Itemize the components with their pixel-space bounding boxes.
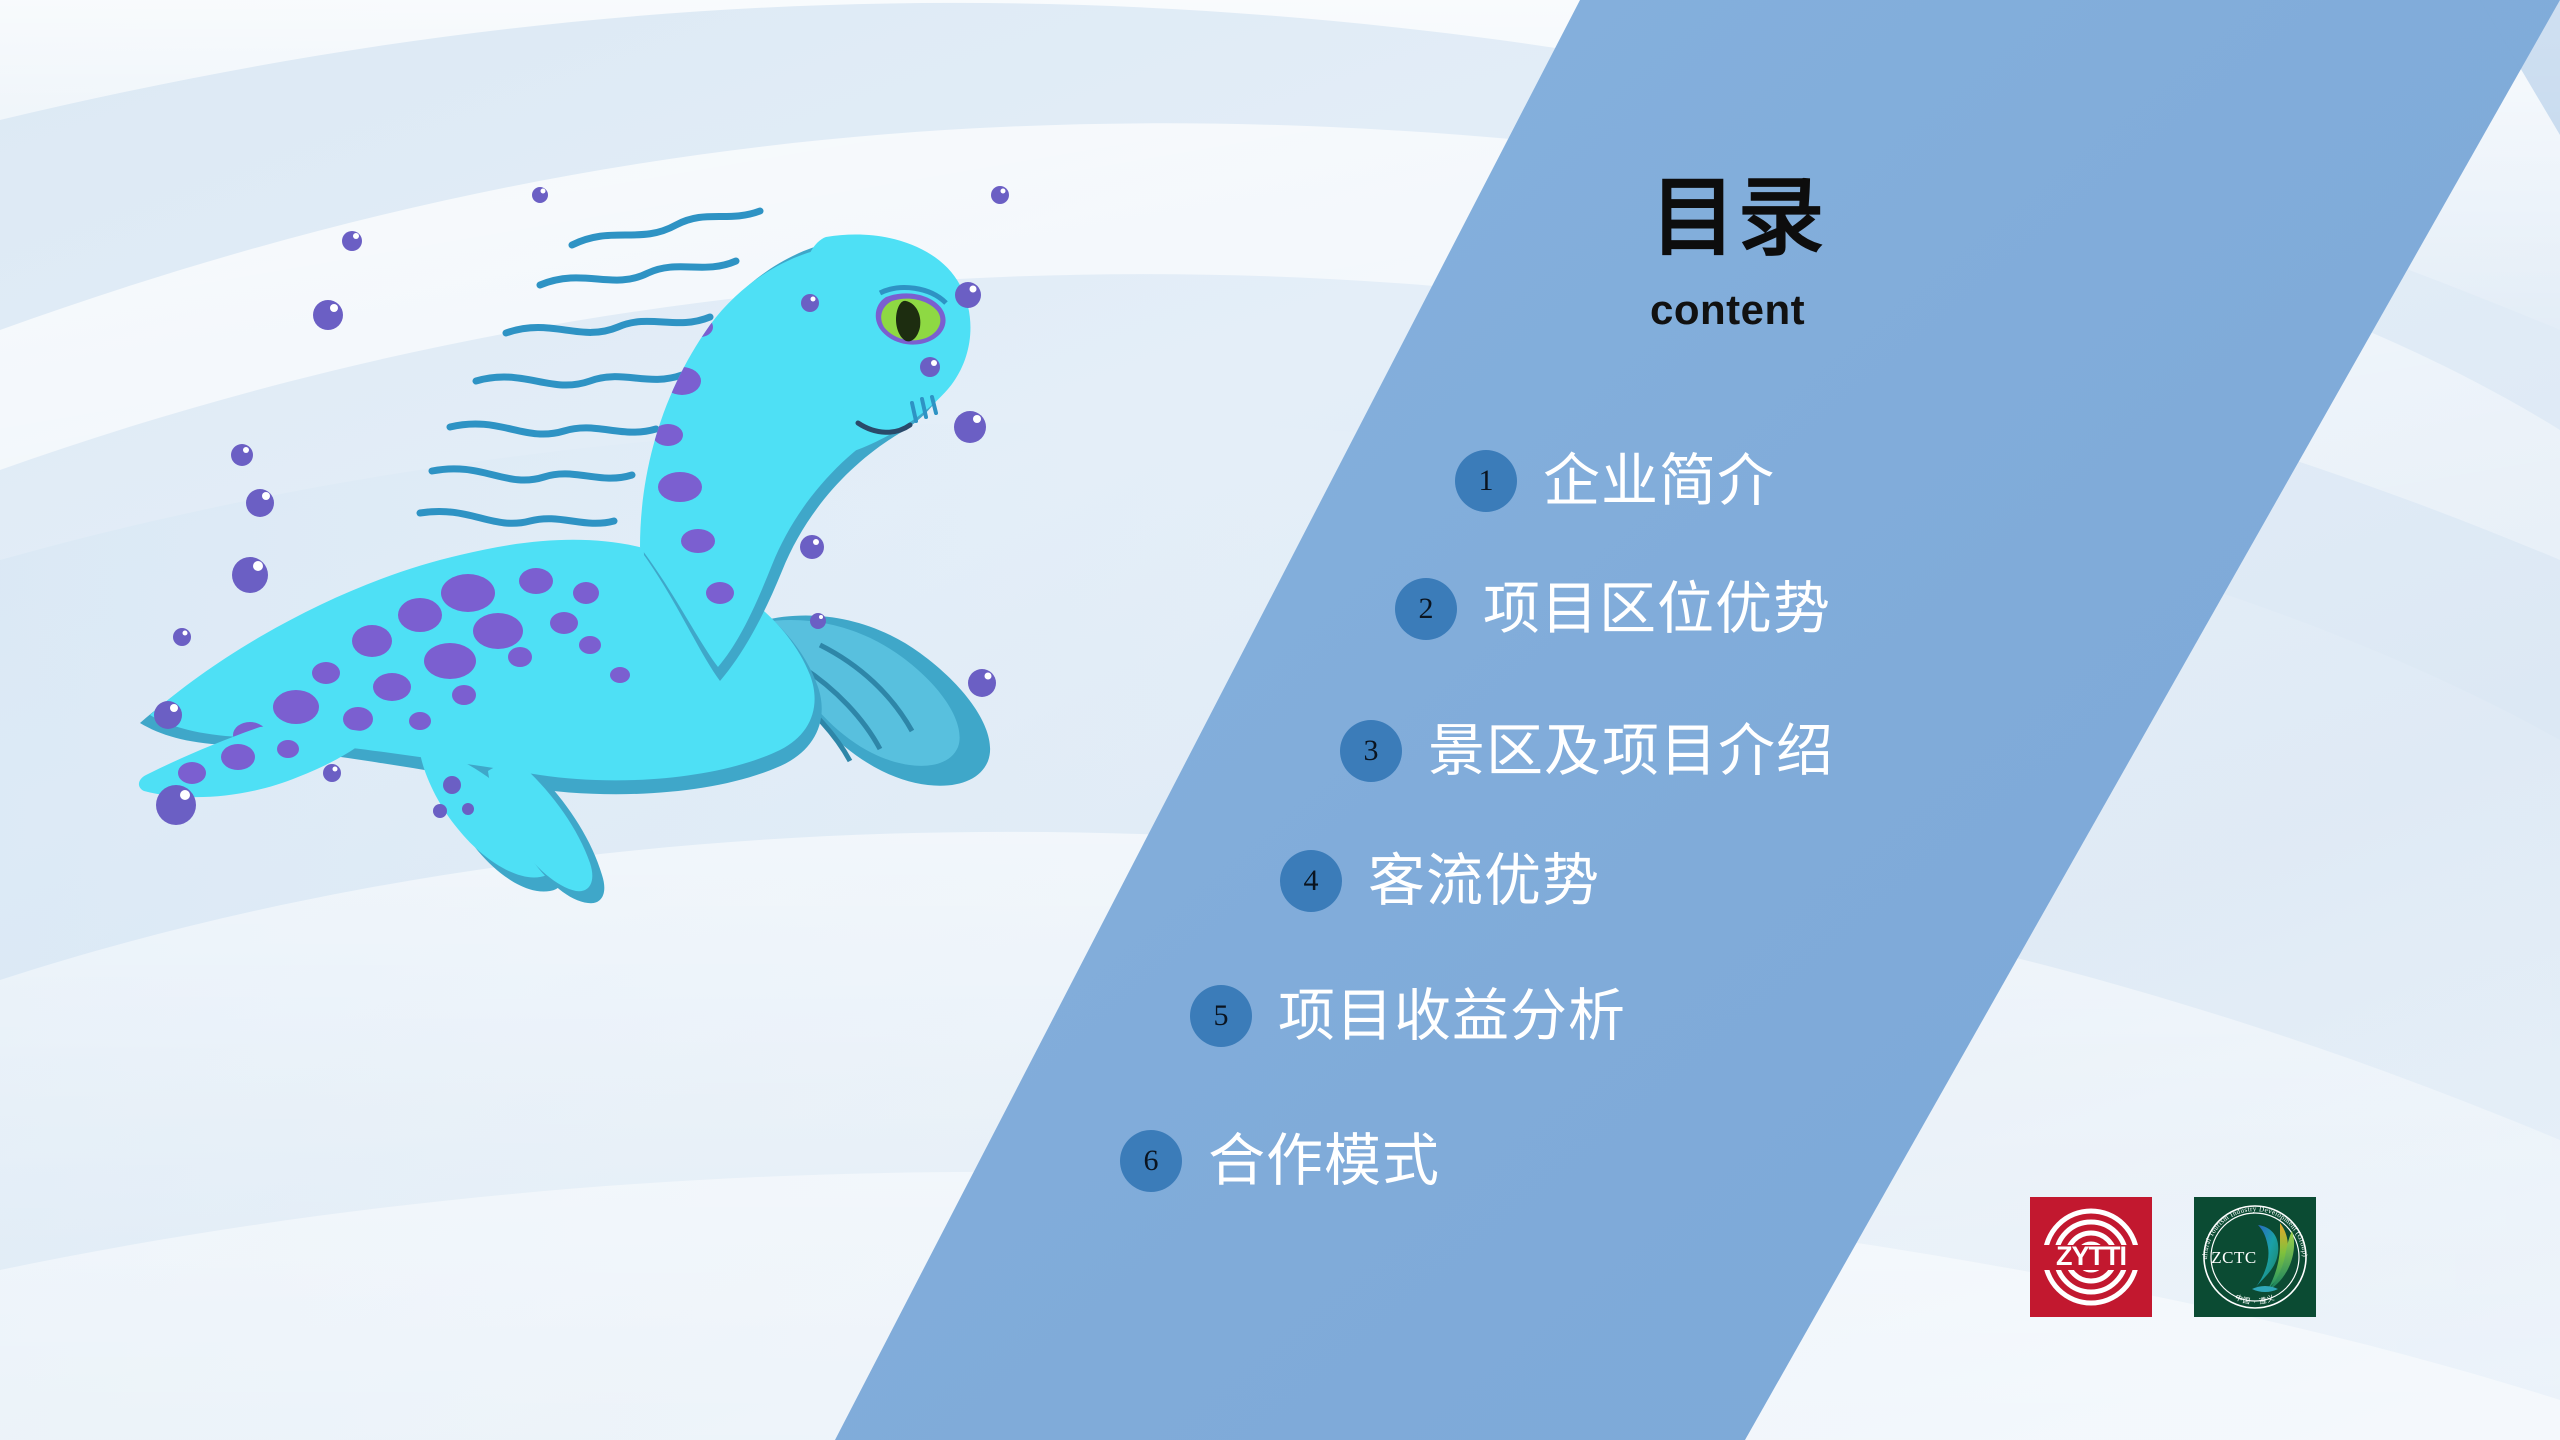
zctc-logo: Zunyi Cultural Tourism Industry Developm…: [2194, 1197, 2316, 1317]
toc-label-4: 客流优势: [1368, 853, 1600, 910]
toc-number-2: 2: [1395, 578, 1457, 640]
svg-text:ZCTC: ZCTC: [2211, 1248, 2256, 1267]
toc-number-4: 4: [1280, 850, 1342, 912]
toc-item-3[interactable]: 3 景区及项目介绍: [1340, 710, 1834, 792]
logo-group: ZYTTI: [2030, 1197, 2316, 1317]
toc-item-6[interactable]: 6 合作模式: [1120, 1120, 1440, 1202]
svg-text:ZYTTI: ZYTTI: [2056, 1241, 2126, 1271]
toc-number-1: 1: [1455, 450, 1517, 512]
toc-item-4[interactable]: 4 客流优势: [1280, 840, 1600, 922]
toc-label-2: 项目区位优势: [1483, 581, 1831, 638]
toc-label-5: 项目收益分析: [1278, 988, 1626, 1045]
toc-item-5[interactable]: 5 项目收益分析: [1190, 975, 1626, 1057]
heading-block: 目录 content: [1650, 175, 2290, 331]
toc-label-1: 企业简介: [1543, 453, 1775, 510]
toc-item-1[interactable]: 1 企业简介: [1455, 440, 1775, 522]
table-of-contents: 1 企业简介 2 项目区位优势 3 景区及项目介绍 4 客流优势 5 项目收益分…: [0, 440, 2560, 1260]
slide-root: 目录 content 1 企业简介 2 项目区位优势 3 景区及项目介绍 4 客…: [0, 0, 2560, 1440]
toc-item-2[interactable]: 2 项目区位优势: [1395, 568, 1831, 650]
page-title-en: content: [1650, 289, 2290, 331]
toc-number-3: 3: [1340, 720, 1402, 782]
toc-number-5: 5: [1190, 985, 1252, 1047]
toc-label-3: 景区及项目介绍: [1428, 723, 1834, 780]
toc-label-6: 合作模式: [1208, 1133, 1440, 1190]
page-title-cn: 目录: [1650, 175, 2290, 261]
zytti-logo: ZYTTI: [2030, 1197, 2152, 1317]
toc-number-6: 6: [1120, 1130, 1182, 1192]
